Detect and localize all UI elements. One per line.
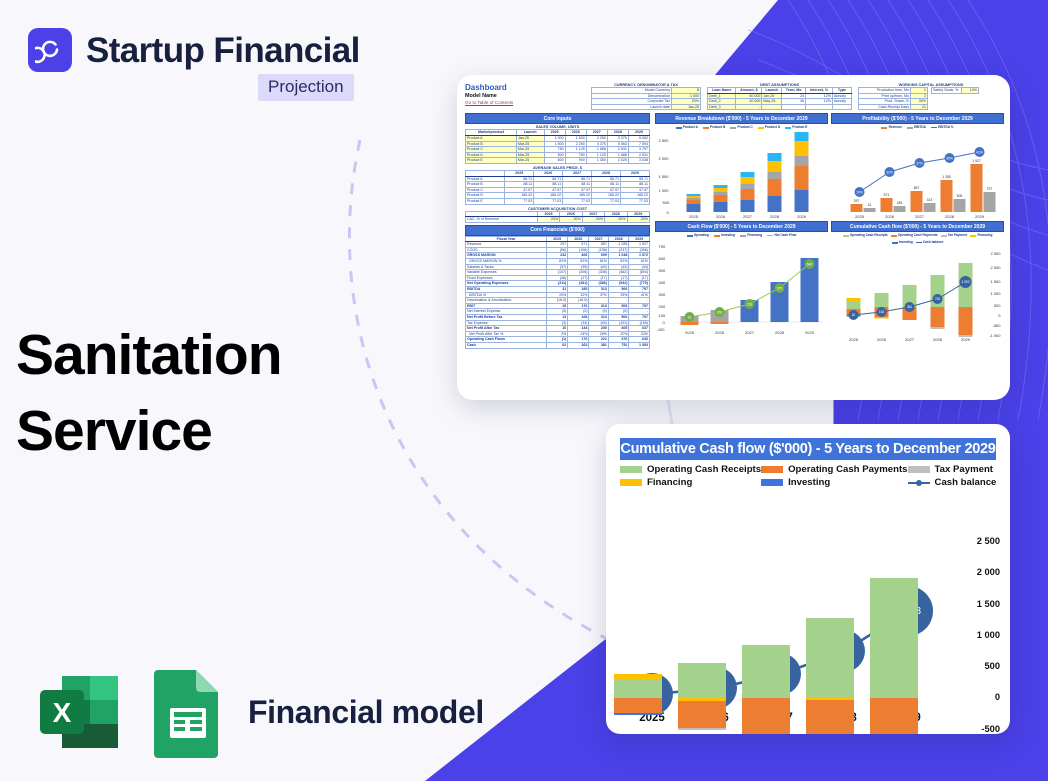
working-capital-table: Production time, Mo2 Print up/from, Mo2 … [858, 87, 928, 110]
dashboard-toc-link[interactable]: Go to Table of Contents [465, 100, 585, 105]
svg-text:700: 700 [659, 244, 666, 249]
svg-text:752: 752 [935, 298, 941, 302]
svg-text:163: 163 [879, 311, 885, 315]
svg-text:163: 163 [717, 311, 723, 315]
svg-text:31: 31 [868, 203, 872, 207]
svg-text:2028: 2028 [770, 214, 780, 218]
profitability-band: Profitability ($'000) - 5 Years to Decem… [831, 113, 1004, 124]
svg-text:381: 381 [907, 306, 913, 310]
svg-text:571: 571 [884, 193, 890, 197]
svg-text:1 000: 1 000 [990, 291, 1001, 296]
svg-text:2029: 2029 [975, 214, 985, 218]
page-title-line1: Sanitation [16, 318, 282, 394]
svg-text:2028: 2028 [945, 214, 955, 218]
debt-table: Loan Name Amount, $ Launch Term, Mo Inte… [707, 87, 852, 110]
svg-text:2025: 2025 [855, 214, 865, 218]
bar-segment [806, 700, 854, 734]
svg-text:500: 500 [994, 303, 1001, 308]
svg-text:2028: 2028 [775, 330, 785, 334]
legend-item-cash-balance: Cash balance [908, 477, 997, 488]
svg-text:797: 797 [987, 187, 993, 191]
legend-swatch [761, 479, 783, 486]
bar-segment [806, 618, 854, 698]
svg-text:2 000: 2 000 [659, 156, 670, 161]
svg-text:2025: 2025 [849, 337, 859, 341]
svg-text:2029: 2029 [805, 330, 815, 334]
svg-text:2027: 2027 [745, 330, 755, 334]
svg-text:41%: 41% [976, 151, 983, 155]
svg-text:185: 185 [897, 201, 903, 205]
y-axis-tick: 1 500 [977, 599, 1000, 609]
svg-text:62: 62 [852, 314, 856, 318]
svg-text:62: 62 [688, 316, 692, 320]
safety-stock-table: Safety Stock, %10% [931, 87, 979, 94]
table-row: Launch dateJan-25 [592, 104, 701, 110]
brand-name: Startup Financial [86, 33, 360, 68]
row-value: 62 [547, 342, 568, 348]
table-row: Product EMar-256009001 3502 0253 038 [466, 158, 650, 164]
svg-text:506: 506 [957, 194, 963, 198]
svg-text:X: X [53, 697, 72, 728]
dashboard-screenshot-card[interactable]: Dashboard Model Name Go to Table of Cont… [457, 75, 1010, 400]
cash-flow-chart: 700600500400 3002001000-100 [655, 238, 828, 334]
bar-segment [742, 645, 790, 699]
bar-segment [870, 698, 918, 734]
core-financials-table: Fiscal Year20252026202720282029Revenue29… [465, 236, 650, 349]
bar-segment [614, 698, 662, 712]
svg-text:2027: 2027 [915, 214, 925, 218]
legend-swatch [620, 479, 642, 486]
row-value: 752 [608, 342, 629, 348]
svg-text:218: 218 [747, 303, 753, 307]
legend-item-financing: Financing [620, 477, 761, 488]
table-row: CAC, % of Revenue20%20%20%20%20% [466, 217, 650, 223]
y-axis-tick: -500 [981, 724, 1000, 734]
y-axis-tick: 2 000 [977, 567, 1000, 577]
legend-swatch [908, 466, 930, 473]
svg-text:2026: 2026 [716, 214, 726, 218]
currency-table: Model Currency$ Denomination1 000 Corpor… [591, 87, 701, 110]
spiral-e-logo-icon [28, 28, 72, 72]
dashboard-model-name: Model Name [465, 93, 585, 99]
svg-text:2027: 2027 [905, 337, 915, 341]
svg-text:300: 300 [659, 292, 666, 297]
legend-swatch [761, 466, 783, 473]
svg-text:2029: 2029 [797, 214, 807, 218]
svg-text:1 500: 1 500 [659, 174, 670, 179]
svg-text:313: 313 [927, 198, 933, 202]
svg-text:2025: 2025 [685, 330, 695, 334]
svg-text:2 500: 2 500 [990, 251, 1001, 256]
chart-legend: Operating Cash Receipts Operating Cash P… [620, 464, 996, 488]
svg-text:2026: 2026 [885, 214, 895, 218]
table-row: Variable Expenses(107)(206)(308)(462)(69… [466, 270, 650, 276]
y-axis-tick: 500 [984, 661, 1000, 671]
cumulative-cash-flow-card[interactable]: Cumulative Cash flow ($'000) - 5 Years t… [606, 424, 1010, 734]
svg-text:2025: 2025 [689, 214, 699, 218]
svg-text:500: 500 [663, 200, 670, 205]
svg-text:2029: 2029 [961, 337, 971, 341]
table-row: Product E77.0377.0377.0377.0377.03 [466, 198, 650, 204]
svg-text:1 285: 1 285 [942, 175, 951, 179]
svg-text:10%: 10% [856, 191, 863, 195]
poster-canvas: Startup Financial Projection Sanitation … [0, 0, 1048, 781]
bar-segment [678, 663, 726, 699]
svg-text:1 927: 1 927 [972, 159, 981, 163]
revenue-breakdown-legend: Product A Product B Product C Product D … [655, 125, 828, 129]
cac-table: 20252026202720282029 CAC, % of Revenue20… [465, 211, 650, 223]
svg-text:2028: 2028 [933, 337, 943, 341]
page-title-line2: Service [16, 394, 282, 470]
svg-text:-500: -500 [992, 323, 1001, 328]
svg-text:0: 0 [667, 210, 670, 215]
bar-segment [678, 728, 726, 730]
cumulative-cash-flow-legend: Operating Cash Receipts Operating Cash P… [831, 233, 1004, 244]
legend-line-marker [908, 479, 930, 486]
svg-text:1 393: 1 393 [962, 281, 970, 285]
svg-text:500: 500 [659, 268, 666, 273]
row-value: 163 [568, 342, 589, 348]
svg-text:2 000: 2 000 [990, 265, 1001, 270]
sales-volume-table: Market/product Launch 2025 2026 2027 202… [465, 129, 650, 164]
brand-logo-row: Startup Financial [28, 28, 360, 72]
svg-text:640: 640 [807, 263, 813, 267]
dashboard-content: Dashboard Model Name Go to Table of Cont… [465, 83, 1004, 396]
profitability-chart: 10% 32% 37% 39% 41% 297 571 857 [831, 130, 1004, 218]
cash-flow-band: Cash Flow ($'000) - 5 Years to December … [655, 221, 828, 232]
bar-segment [614, 680, 662, 699]
y-axis-tick: 0 [995, 692, 1000, 702]
profitability-legend: Revenue EBITDA EBITDA % [831, 125, 1004, 129]
microsoft-excel-icon: X [32, 664, 128, 760]
bar-segment [614, 713, 662, 715]
file-format-label: Financial model [248, 694, 484, 731]
google-sheets-icon [150, 664, 226, 760]
chart-y-axis: 2 5002 0001 5001 0005000-500-1 000-1 500 [948, 542, 1004, 722]
svg-text:375: 375 [777, 287, 783, 291]
row-value: 1 393 [629, 342, 650, 348]
legend-item-investing: Investing [761, 477, 907, 488]
row-value: 381 [589, 342, 608, 348]
row-label: Cash [466, 342, 547, 348]
svg-text:297: 297 [854, 199, 860, 203]
core-inputs-band: Core Inputs [465, 113, 650, 124]
table-row: Debt_3 - [708, 104, 852, 110]
svg-text:1 500: 1 500 [990, 279, 1001, 284]
svg-text:200: 200 [659, 304, 666, 309]
svg-text:100: 100 [659, 313, 666, 318]
svg-text:857: 857 [914, 186, 920, 190]
table-row: Cash Receipt Days21 [859, 104, 928, 110]
table-row: Net Operating Expenses(211)(281)(386)(54… [466, 281, 650, 287]
legend-item-tax-payment: Tax Payment [908, 464, 997, 475]
bar-segment [614, 674, 662, 680]
y-axis-tick: 1 000 [977, 630, 1000, 640]
svg-text:600: 600 [659, 256, 666, 261]
table-row: Safety Stock, %10% [932, 88, 979, 94]
svg-text:1 000: 1 000 [659, 188, 670, 193]
svg-text:2 500: 2 500 [659, 138, 670, 143]
svg-text:2027: 2027 [743, 214, 753, 218]
svg-text:32%: 32% [886, 171, 893, 175]
cash-flow-legend: Operating Investing Financing Net Cash F… [655, 233, 828, 237]
core-financials-band: Core Financials ($'000) [465, 225, 650, 236]
svg-text:0: 0 [663, 320, 666, 325]
cumulative-cash-flow-chart: 2 5002 0001 500 1 0005000 -500-1 000 [831, 245, 1004, 341]
legend-swatch [620, 466, 642, 473]
revenue-breakdown-band: Revenue Breakdown ($'000) - 5 Years to D… [655, 113, 828, 124]
svg-text:400: 400 [659, 280, 666, 285]
dashboard-title: Dashboard [465, 83, 585, 92]
y-axis-tick: 2 500 [977, 536, 1000, 546]
table-row: Cash621633817521 393 [466, 342, 650, 348]
svg-text:39%: 39% [946, 157, 953, 161]
file-format-row: X Financial model [32, 664, 484, 760]
avg-price-table: 20252026202720282029 Product A58.7158.71… [465, 170, 650, 205]
legend-item-operating-cash-receipts: Operating Cash Receipts [620, 464, 761, 475]
brand-subtitle: Projection [258, 74, 354, 101]
revenue-breakdown-chart: 2 5002 0001 500 1 0005000 [655, 130, 828, 218]
bar-segment [742, 698, 790, 734]
svg-text:37%: 37% [916, 162, 923, 166]
svg-text:-100: -100 [657, 327, 666, 332]
page-title: Sanitation Service [16, 318, 282, 470]
svg-text:-1 000: -1 000 [989, 333, 1001, 338]
chart-title: Cumulative Cash flow ($'000) - 5 Years t… [620, 438, 996, 460]
bar-segment [678, 701, 726, 728]
svg-text:2026: 2026 [877, 337, 887, 341]
svg-text:2026: 2026 [715, 330, 725, 334]
cumulative-cash-flow-band: Cumulative Cash flow ($'000) - 5 Years t… [831, 221, 1004, 232]
svg-text:0: 0 [998, 313, 1001, 318]
bar-segment [870, 578, 918, 698]
legend-item-operating-cash-payments: Operating Cash Payments [761, 464, 907, 475]
